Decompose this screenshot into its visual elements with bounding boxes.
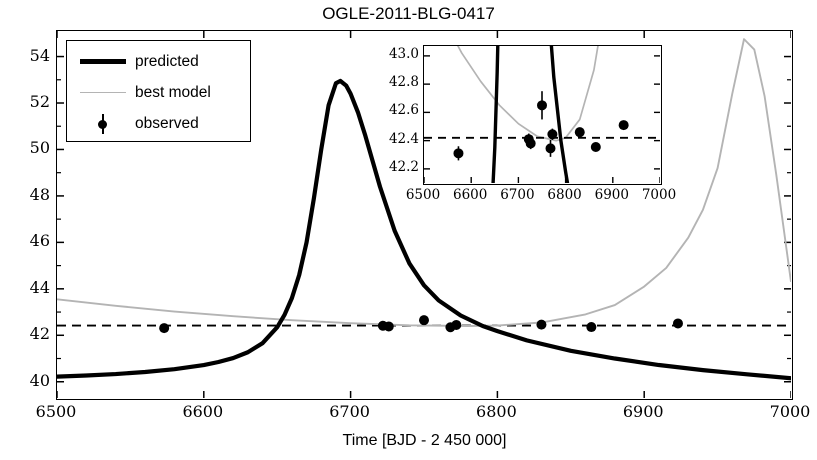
figure-canvas: OGLE-2011-BLG-0417 Differential RV (RVle… [0,0,817,460]
inset-x-tick-label: 7000 [633,189,685,203]
y-tick-label: 50 [8,140,50,156]
legend-label-observed: observed [131,115,199,133]
x-tick-label: 6500 [21,404,91,420]
observed-point [159,323,169,333]
inset-x-tick-label: 6700 [491,189,543,203]
observed-point [419,315,429,325]
x-tick-label: 7000 [755,404,817,420]
inset-x-tick-label: 6500 [397,189,449,203]
legend-label-predicted: predicted [131,53,199,71]
inset-x-tick-label: 6800 [539,189,591,203]
inset-observed-point [591,142,601,152]
observed-point [586,322,596,332]
inset-observed-point [619,120,629,130]
inset-observed-point [545,140,555,157]
inset-y-tick-label: 43.0 [371,48,419,62]
y-tick-label: 54 [8,48,50,64]
inset-y-tick-label: 42.4 [371,133,419,147]
legend-key-thin-line-icon [75,92,131,93]
y-tick-label: 42 [8,326,50,342]
y-tick-label: 40 [8,373,50,389]
observed-point [673,318,683,328]
legend-key-point-icon [75,113,131,135]
x-axis-label: Time [BJD - 2 450 000] [56,432,793,450]
x-tick-label: 6700 [315,404,385,420]
legend-box: predicted best model observed [66,40,251,142]
inset-observed-point [575,127,585,137]
inset-x-tick-label: 6900 [586,189,638,203]
inset-y-tick-label: 42.8 [371,76,419,90]
legend-label-best-model: best model [131,84,211,102]
inset-observed-point [453,146,463,160]
observed-point [451,320,461,330]
inset-x-tick-label: 6600 [444,189,496,203]
x-tick-label: 6900 [608,404,678,420]
observed-point [536,320,546,330]
legend-item-predicted: predicted [75,46,242,77]
x-tick-label: 6800 [461,404,531,420]
inset-plot-svg [424,46,660,183]
inset-y-tick-label: 42.6 [371,104,419,118]
y-tick-label: 48 [8,187,50,203]
y-tick-label: 46 [8,233,50,249]
inset-observed-point [537,91,547,119]
page-title: OGLE-2011-BLG-0417 [0,4,817,24]
inset-plot-area [423,45,662,185]
y-tick-label: 44 [8,280,50,296]
legend-item-observed: observed [75,108,242,139]
y-tick-label: 52 [8,94,50,110]
legend-key-line-icon [75,59,131,64]
observed-point [384,321,394,331]
inset-y-tick-label: 42.2 [371,161,419,175]
x-tick-label: 6600 [168,404,238,420]
legend-item-best-model: best model [75,77,242,108]
